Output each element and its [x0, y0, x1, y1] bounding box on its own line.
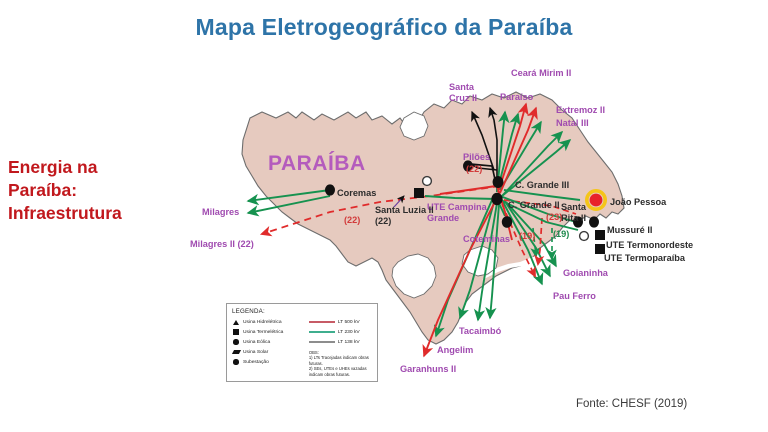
node-c-grande-iii [493, 176, 504, 188]
map-label-line: (22) [375, 216, 434, 227]
map-label-joao-pessoa: João Pessoa [610, 197, 666, 208]
map-label-num-19b: (19) [553, 229, 569, 240]
legend-label: Subestação [243, 360, 269, 365]
map-label-ceara-mirim-ii: Ceará Mirim II [511, 68, 571, 79]
legend-item-usina-solar: Usina Solar [232, 347, 303, 357]
map-label-line: João Pessoa [610, 197, 666, 208]
map-label-tacaimbo: Tacaimbó [459, 326, 501, 337]
line-swatch-500kv [309, 321, 335, 323]
map-label-line: Milagres [202, 207, 239, 218]
map-label-line: Pau Ferro [553, 291, 596, 302]
legend-line-138kv: LT 138 kV [309, 337, 372, 347]
legend-line-500kv: LT 500 kV [309, 317, 372, 327]
map-label-milagres: Milagres [202, 207, 239, 218]
map-label-line: (19) [519, 231, 535, 242]
legend-symbol-column: Usina Hidrelétrica Usina Termelétrica Us… [232, 317, 303, 377]
legend-box: LEGENDA: Usina Hidrelétrica Usina Termel… [226, 303, 378, 382]
map-label-goianinha: Goianinha [563, 268, 608, 279]
map-label-pau-ferro: Pau Ferro [553, 291, 596, 302]
map-label-line: Mussuré II [607, 225, 652, 236]
map-label-c-grande-iii: C. Grande III [515, 180, 569, 191]
map-label-extremoz-ii: Extremoz II [556, 105, 605, 116]
node-coremas [325, 184, 335, 195]
slide-root: Mapa Eletrogeográfico da Paraíba Energia… [0, 0, 768, 432]
legend-label: Usina Termelétrica [243, 330, 283, 335]
legend-line-230kv: LT 230 kV [309, 327, 372, 337]
map-label-mussure-ii: Mussuré II [607, 225, 652, 236]
circle-icon [232, 359, 240, 364]
map-label-ute-termoparaiba: UTE Termoparaíba [604, 253, 685, 264]
map-label-coremas-num: (22) [344, 215, 360, 226]
map-label-ute-campina-grande: UTE CampinaGrande [427, 202, 487, 223]
map-label-line: C. Grande II [508, 200, 560, 211]
map-label-santa-rita-ii: SantaRita II [561, 202, 586, 223]
legend-line-label: LT 500 kV [338, 320, 360, 325]
map-label-line: Cruz II [449, 93, 477, 104]
map-label-c-grande-ii: C. Grande II [508, 200, 560, 211]
map-label-line: UTE Campina [427, 202, 487, 213]
map-label-santa-luzia-ii: Santa Luzia II(22) [375, 205, 434, 226]
map-label-piloes: Pilões [463, 152, 490, 163]
map-label-line: Rita II [561, 213, 586, 224]
parallelogram-icon [232, 350, 240, 354]
legend-item-usina-eolica: Usina Eólica [232, 337, 303, 347]
map-label-line: Coteminas [463, 234, 510, 245]
legend-item-usina-termeletrica: Usina Termelétrica [232, 327, 303, 337]
map-label-natal-iii: Natal III [556, 118, 589, 129]
legend-line-label: LT 230 kV [338, 330, 360, 335]
legend-note-line-2: 2) SEs, UTEs e UHEs vazadas indicam obra… [309, 366, 372, 377]
legend-item-usina-hidreletrica: Usina Hidrelétrica [232, 317, 303, 327]
map-label-angelim: Angelim [437, 345, 473, 356]
map-label-line: C. Grande III [515, 180, 569, 191]
source-credit: Fonte: CHESF (2019) [576, 398, 687, 410]
map-label-line: Pilões [463, 152, 490, 163]
line-swatch-138kv [309, 341, 335, 343]
map-label-num-19a: (19) [519, 231, 535, 242]
legend-line-column: LT 500 kV LT 230 kV LT 138 kV OBS: 1) LT… [309, 317, 372, 377]
node-ute-termonordeste [595, 230, 605, 240]
legend-item-subestacao: Subestação [232, 357, 303, 367]
map-label-line: (19) [553, 229, 569, 240]
node-joao-pessoa [590, 194, 603, 207]
legend-line-label: LT 138 kV [338, 340, 360, 345]
map-label-line: Grande [427, 213, 487, 224]
substation-santa-luzia-marker [423, 177, 432, 186]
map-label-line: (23) [546, 212, 562, 223]
map-label-line: Santa [449, 82, 477, 93]
square-icon [232, 329, 240, 334]
node-c-grande-ii [491, 193, 502, 205]
line-swatch-230kv [309, 331, 335, 333]
legend-note-line-1: 1) LTs Tracejadas indicam obras futuras. [309, 355, 372, 366]
map-label-line: (22) [344, 215, 360, 226]
map-label-coteminas: Coteminas [463, 234, 510, 245]
map-label-line: Extremoz II [556, 105, 605, 116]
map-label-line: Santa Luzia II [375, 205, 434, 216]
map-label-milagres-ii: Milagres II (22) [190, 239, 254, 250]
map-label-coremas: Coremas [337, 188, 376, 199]
map-label-santa-cruz-ii: SantaCruz II [449, 82, 477, 103]
legend-note: OBS: 1) LTs Tracejadas indicam obras fut… [309, 350, 372, 377]
circle-icon [232, 339, 240, 344]
map-label-line: Paraíso [500, 92, 533, 103]
node-mussure-ii [589, 216, 599, 227]
map-label-ute-termonordeste: UTE Termonordeste [606, 240, 693, 251]
map-label-line: Garanhuns II [400, 364, 456, 375]
node-coteminas [502, 216, 512, 228]
map-label-line: Angelim [437, 345, 473, 356]
legend-label: Usina Hidrelétrica [243, 320, 282, 325]
state-name-label: PARAÍBA [268, 152, 366, 176]
map-label-piloes-num: (22) [466, 164, 482, 175]
map-label-line: Goianinha [563, 268, 608, 279]
node-substation-hollow [580, 232, 589, 241]
legend-title: LEGENDA: [232, 308, 372, 315]
map-label-line: Santa [561, 202, 586, 213]
legend-label: Usina Eólica [243, 340, 270, 345]
map-label-line: UTE Termonordeste [606, 240, 693, 251]
legend-label: Usina Solar [243, 350, 268, 355]
map-label-line: Natal III [556, 118, 589, 129]
node-ute-campina-grande [414, 188, 424, 198]
map-label-line: Milagres II (22) [190, 239, 254, 250]
map-label-line: (22) [466, 164, 482, 175]
map-label-line: Tacaimbó [459, 326, 501, 337]
map-label-line: UTE Termoparaíba [604, 253, 685, 264]
map-label-santa-rita-num: (23) [546, 212, 562, 223]
map-label-line: Ceará Mirim II [511, 68, 571, 79]
triangle-icon [232, 320, 240, 325]
map-label-paraiso: Paraíso [500, 92, 533, 103]
map-label-garanhuns-ii: Garanhuns II [400, 364, 456, 375]
map-label-line: Coremas [337, 188, 376, 199]
